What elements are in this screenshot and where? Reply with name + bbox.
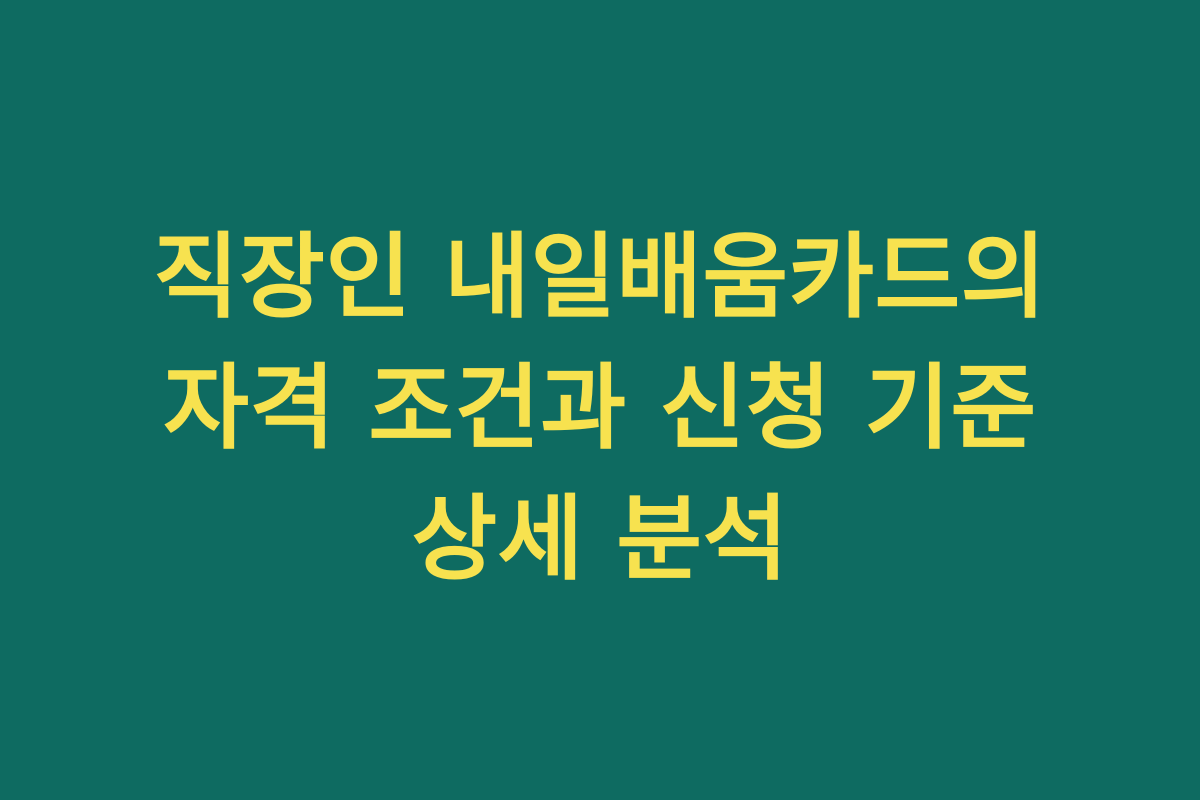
title-card: 직장인 내일배움카드의 자격 조건과 신청 기준 상세 분석	[0, 0, 1200, 800]
title-line-3: 상세 분석	[50, 474, 1150, 605]
title-line-1: 직장인 내일배움카드의	[50, 212, 1150, 343]
page-title: 직장인 내일배움카드의 자격 조건과 신청 기준 상세 분석	[50, 212, 1150, 605]
title-line-2: 자격 조건과 신청 기준	[50, 343, 1150, 474]
